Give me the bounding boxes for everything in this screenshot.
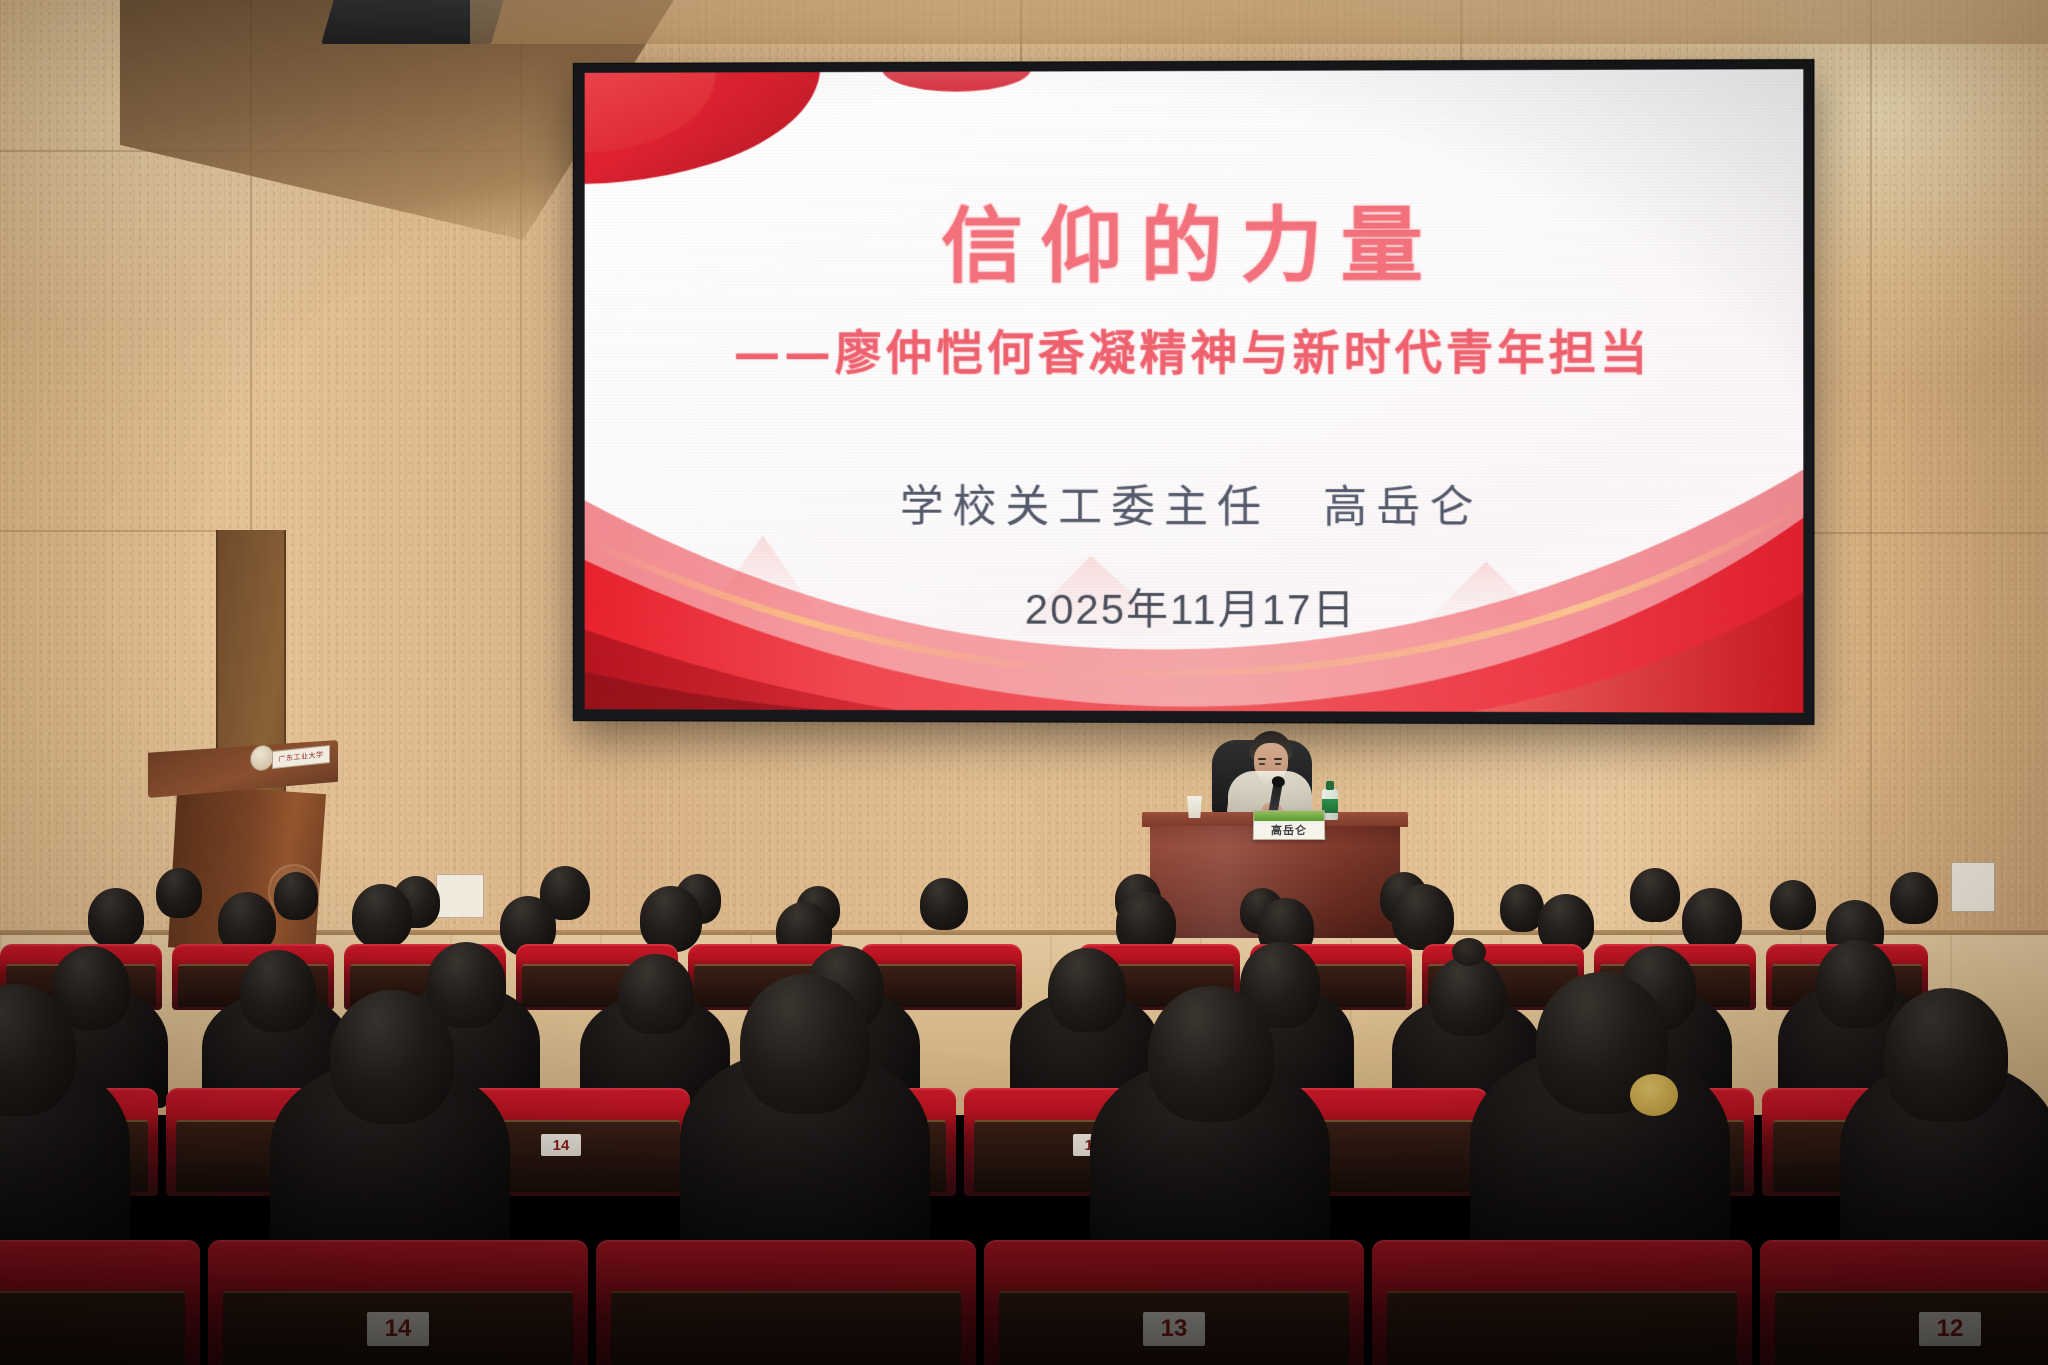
hair-scrunchie xyxy=(1630,1074,1678,1116)
seat-number: 12 xyxy=(1919,1312,1981,1346)
audience-head xyxy=(1770,880,1816,930)
slide-title: 信仰的力量 xyxy=(585,178,1804,299)
audience-head xyxy=(156,868,202,918)
seat-number: 14 xyxy=(541,1134,581,1156)
seat[interactable]: 12 xyxy=(1760,1240,2048,1365)
led-screen: 信仰的力量 ——廖仲恺何香凝精神与新时代青年担当 学校关工委主任 高岳仑 202… xyxy=(585,69,1804,713)
eyebrow-right xyxy=(1274,758,1282,760)
wall-seam xyxy=(1810,532,2048,534)
audience-head xyxy=(1430,956,1506,1036)
seat[interactable]: 14 xyxy=(208,1240,588,1365)
slide-subtitle: ——廖仲恺何香凝精神与新时代青年担当 xyxy=(585,314,1804,384)
seat[interactable] xyxy=(1372,1240,1752,1365)
paper-cup xyxy=(1186,796,1203,818)
seat-back-wood xyxy=(1387,1291,1737,1365)
audience-head xyxy=(1148,986,1274,1122)
wall-outlet xyxy=(436,874,484,918)
audience-head xyxy=(640,886,702,952)
eye-left xyxy=(1259,763,1265,765)
wave-svg xyxy=(585,421,1804,713)
audience-head xyxy=(1816,940,1896,1028)
audience-head xyxy=(1630,868,1680,922)
seat-back-wood xyxy=(0,1291,185,1365)
seat-number: 14 xyxy=(367,1312,429,1346)
speaker-nameplate: 高岳仑 xyxy=(1253,810,1326,840)
audience-head xyxy=(240,950,316,1032)
red-wave-decoration xyxy=(585,421,1804,713)
audience-head xyxy=(88,888,144,948)
wall-seam xyxy=(0,530,250,532)
nameplate-text: 高岳仑 xyxy=(1254,821,1324,839)
audience-head xyxy=(330,990,454,1124)
audience-head xyxy=(1392,884,1454,950)
eye-right xyxy=(1275,763,1281,765)
projection-screen-frame: 信仰的力量 ——廖仲恺何香凝精神与新时代青年担当 学校关工委主任 高岳仑 202… xyxy=(574,60,1814,724)
ceiling-trim xyxy=(470,0,2048,44)
wall-outlet xyxy=(1951,862,1995,912)
audience-head xyxy=(352,884,412,948)
audience-head xyxy=(920,878,968,930)
seat-number: 13 xyxy=(1143,1312,1205,1346)
auditorium-photo: 信仰的力量 ——廖仲恺何香凝精神与新时代青年担当 学校关工委主任 高岳仑 202… xyxy=(0,0,2048,1365)
seat[interactable] xyxy=(0,1240,200,1365)
seat[interactable] xyxy=(596,1240,976,1365)
seat-back-wood xyxy=(611,1291,961,1365)
bottle-cap xyxy=(1326,781,1334,790)
slide-presenter: 学校关工委主任 高岳仑 xyxy=(585,471,1804,536)
nameplate-green-band xyxy=(1254,811,1324,821)
audience-head xyxy=(1682,888,1742,952)
audience-head xyxy=(740,974,870,1114)
seat-back-wood xyxy=(1775,1291,2048,1365)
ribbon-decoration-top-center xyxy=(882,69,1031,92)
audience-head xyxy=(1884,988,2008,1122)
audience-head xyxy=(274,872,318,920)
hair-bun xyxy=(1452,938,1486,966)
audience-area: 14 13 12 xyxy=(0,930,2048,1365)
audience-head xyxy=(1890,872,1938,924)
audience-head xyxy=(1048,948,1126,1032)
seat[interactable]: 13 xyxy=(984,1240,1364,1365)
slide-date: 2025年11月17日 xyxy=(585,575,1804,638)
wall-seam xyxy=(1870,0,1872,990)
eyebrow-left xyxy=(1258,758,1266,760)
audience-head xyxy=(618,954,694,1034)
